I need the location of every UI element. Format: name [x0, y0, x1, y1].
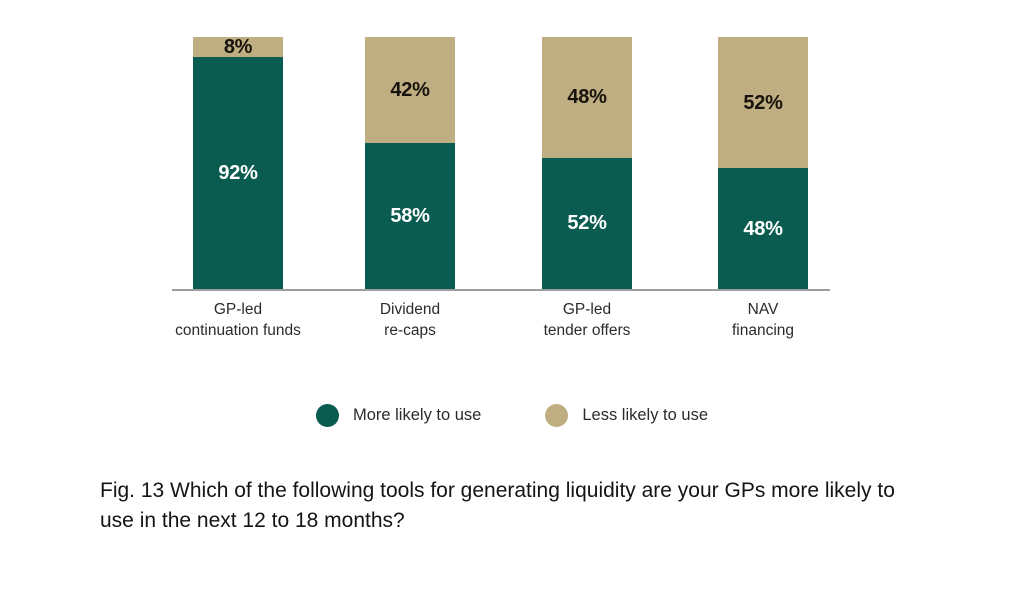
chart-plot-area: 8% 92% 42% 58% 48% 52%: [172, 37, 830, 289]
bar-group-gp-led-continuation-funds[interactable]: 8% 92%: [193, 37, 283, 289]
stacked-bar-chart: 8% 92% 42% 58% 48% 52%: [0, 0, 1024, 591]
bar-segment-more-likely[interactable]: 92%: [193, 57, 283, 289]
x-axis-label-line: GP-led: [143, 299, 333, 320]
chart-legend: More likely to use Less likely to use: [0, 404, 1024, 427]
bar-segment-less-likely[interactable]: 48%: [542, 37, 632, 158]
x-axis-label-line: financing: [668, 320, 858, 341]
legend-item-more-likely-to-use[interactable]: More likely to use: [316, 404, 481, 427]
x-axis-label-nav-financing: NAV financing: [668, 299, 858, 341]
x-axis-label-line: re-caps: [315, 320, 505, 341]
bar-segment-value-label: 58%: [390, 206, 429, 226]
x-axis-label-line: tender offers: [492, 320, 682, 341]
legend-item-label: More likely to use: [353, 406, 481, 425]
circle-marker-icon: [316, 404, 339, 427]
bar-segment-more-likely[interactable]: 48%: [718, 168, 808, 289]
bar-segment-more-likely[interactable]: 52%: [542, 158, 632, 289]
legend-item-label: Less likely to use: [582, 406, 708, 425]
x-axis-category-labels: GP-led continuation funds Dividend re-ca…: [172, 299, 830, 349]
bar-segment-value-label: 42%: [390, 80, 429, 100]
bar-group-gp-led-tender-offers[interactable]: 48% 52%: [542, 37, 632, 289]
x-axis-label-gp-led-continuation-funds: GP-led continuation funds: [143, 299, 333, 341]
x-axis-label-line: continuation funds: [143, 320, 333, 341]
x-axis-label-gp-led-tender-offers: GP-led tender offers: [492, 299, 682, 341]
bar-group-nav-financing[interactable]: 52% 48%: [718, 37, 808, 289]
bar-segment-less-likely[interactable]: 52%: [718, 37, 808, 168]
bar-group-dividend-re-caps[interactable]: 42% 58%: [365, 37, 455, 289]
x-axis-label-line: NAV: [668, 299, 858, 320]
bar-segment-value-label: 8%: [224, 37, 252, 57]
bar-segment-value-label: 52%: [567, 213, 606, 233]
bar-segment-value-label: 48%: [743, 219, 782, 239]
circle-marker-icon: [545, 404, 568, 427]
bar-segment-more-likely[interactable]: 58%: [365, 143, 455, 289]
bar-segment-value-label: 92%: [218, 163, 257, 183]
x-axis-label-line: GP-led: [492, 299, 682, 320]
bar-segment-value-label: 48%: [567, 87, 606, 107]
bar-segment-value-label: 52%: [743, 93, 782, 113]
legend-item-less-likely-to-use[interactable]: Less likely to use: [545, 404, 708, 427]
bar-segment-less-likely[interactable]: 42%: [365, 37, 455, 143]
figure-caption: Fig. 13 Which of the following tools for…: [100, 476, 900, 536]
x-axis-line: [172, 289, 830, 291]
bar-segment-less-likely[interactable]: 8%: [193, 37, 283, 57]
x-axis-label-dividend-re-caps: Dividend re-caps: [315, 299, 505, 341]
x-axis-label-line: Dividend: [315, 299, 505, 320]
